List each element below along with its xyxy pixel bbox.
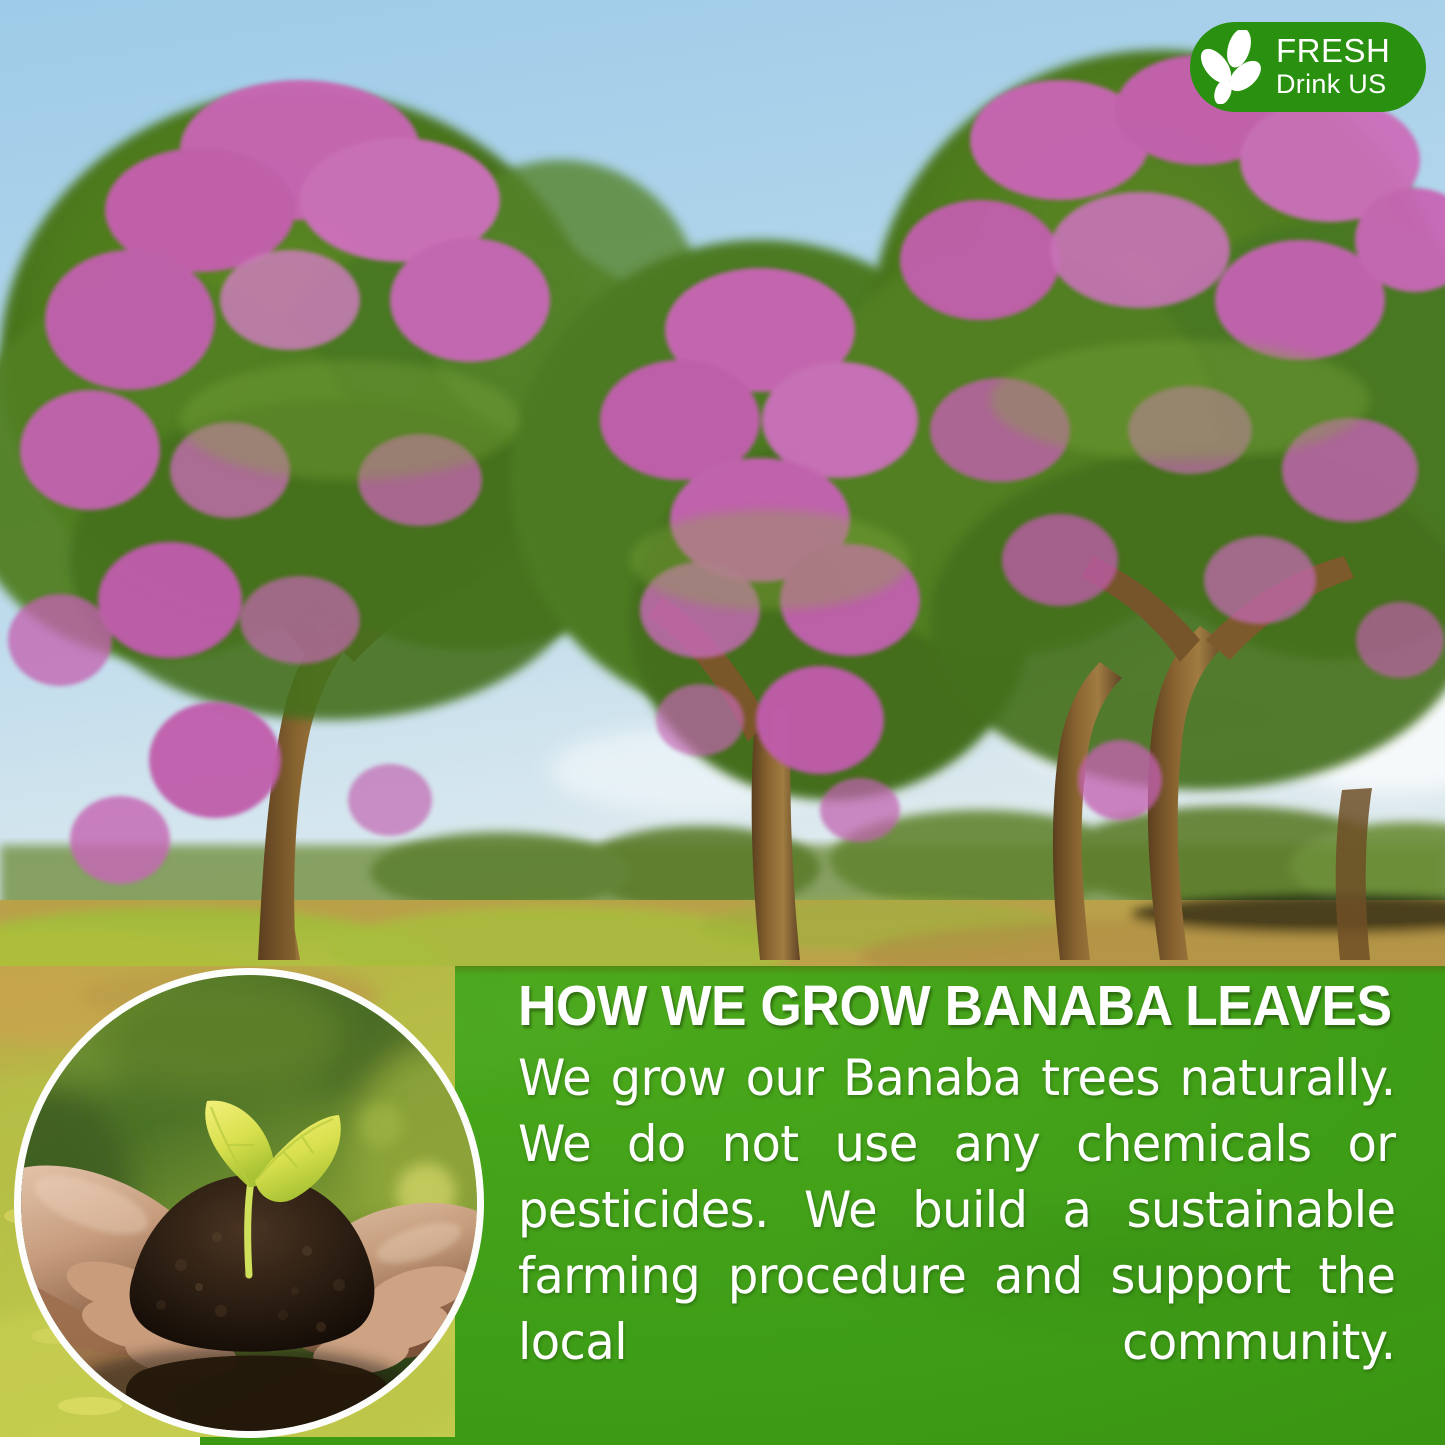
banner-copy-block: HOW WE GROW BANABA LEAVES We grow our Ba… — [518, 978, 1432, 1441]
bottom-white-strip — [0, 1437, 200, 1445]
page-title: HOW WE GROW BANABA LEAVES — [518, 978, 1373, 1035]
circle-clip — [21, 975, 477, 1431]
fresh-drink-us-logo[interactable]: FRESH Drink US — [1190, 22, 1426, 112]
leaf-cluster-svg — [1197, 30, 1269, 104]
logo-primary-text: FRESH — [1276, 34, 1390, 67]
product-marketing-poster: FRESH Drink US HOW WE GROW BANABA LEAVES… — [0, 0, 1445, 1445]
leaf-cluster-icon — [1190, 22, 1276, 112]
seedling-illustration — [21, 975, 477, 1431]
hands-holding-seedling-photo — [14, 968, 484, 1438]
logo-secondary-text: Drink US — [1276, 71, 1390, 98]
banner-body-text: We grow our Banaba trees naturally. We d… — [518, 1045, 1395, 1441]
logo-text-block: FRESH Drink US — [1276, 34, 1390, 100]
